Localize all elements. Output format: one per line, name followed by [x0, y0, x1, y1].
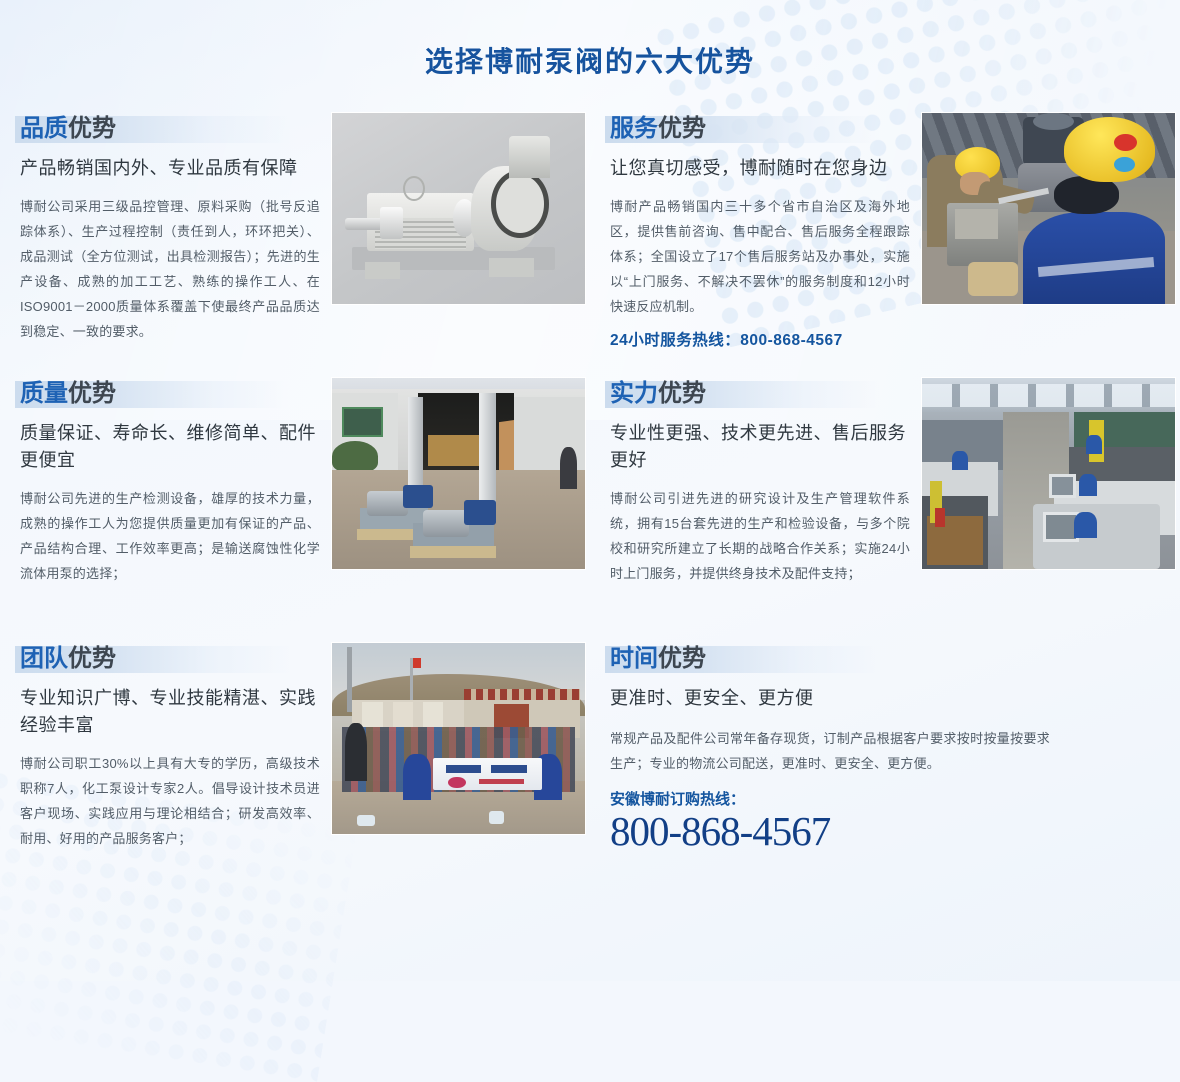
advantage-heading-quality: 品质优势 — [15, 112, 320, 146]
advantage-text-time: 时间优势 更准时、更安全、更方便 常规产品及配件公司常年备存现货，订制产品根据客… — [590, 642, 1060, 907]
advantage-heading-strength: 实力优势 — [605, 377, 910, 411]
heading-suffix: 优势 — [658, 115, 706, 142]
advantages-page: 选择博耐泵阀的六大优势 品质优势 产品畅销国内外、专业品质有保障 博耐公司采用三… — [0, 0, 1180, 981]
advantage-block-time: 时间优势 更准时、更安全、更方便 常规产品及配件公司常年备存现货，订制产品根据客… — [590, 642, 1180, 907]
advantage-block-team: 团队优势 专业知识广博、专业技能精湛、实践经验丰富 博耐公司职工30%以上具有大… — [0, 642, 590, 907]
advantage-block-quality: 品质优势 产品畅销国内外、专业品质有保障 博耐公司采用三级品控管理、原料采购（批… — [0, 112, 590, 377]
advantage-subtitle: 质量保证、寿命长、维修简单、配件更便宜 — [15, 420, 320, 474]
advantage-image-charity-group-photo-tibet — [331, 642, 586, 835]
advantage-body: 博耐公司引进先进的研究设计及生产管理软件系统，拥有15台套先进的生产和检验设备，… — [605, 486, 910, 586]
advantage-heading-reliability: 质量优势 — [15, 377, 320, 411]
advantage-text-strength: 实力优势 专业性更强、技术更先进、售后服务更好 博耐公司引进先进的研究设计及生产… — [590, 377, 920, 642]
heading-suffix: 优势 — [68, 380, 116, 407]
advantage-row-1: 品质优势 产品畅销国内外、专业品质有保障 博耐公司采用三级品控管理、原料采购（批… — [0, 112, 1180, 377]
heading-suffix: 优势 — [68, 115, 116, 142]
heading-accent: 时间 — [610, 645, 658, 672]
advantage-text-quality: 品质优势 产品畅销国内外、专业品质有保障 博耐公司采用三级品控管理、原料采购（批… — [0, 112, 330, 377]
order-hotline-label: 安徽博耐订购热线： — [605, 788, 1050, 809]
advantage-rows: 品质优势 产品畅销国内外、专业品质有保障 博耐公司采用三级品控管理、原料采购（批… — [0, 112, 1180, 907]
advantage-text-service: 服务优势 让您真切感受，博耐随时在您身边 博耐产品畅销国内三十多个省市自治区及海… — [590, 112, 920, 377]
heading-accent: 品质 — [20, 115, 68, 142]
advantage-image-pump-cutaway-render — [331, 112, 586, 305]
advantage-block-reliability: 质量优势 质量保证、寿命长、维修简单、配件更便宜 博耐公司先进的生产检测设备，雄… — [0, 377, 590, 642]
heading-accent: 质量 — [20, 380, 68, 407]
advantage-subtitle: 专业知识广博、专业技能精湛、实践经验丰富 — [15, 685, 320, 739]
advantage-body: 博耐产品畅销国内三十多个省市自治区及海外地区，提供售前咨询、售中配合、售后服务全… — [605, 194, 910, 319]
advantage-body: 博耐公司采用三级品控管理、原料采购（批号反追踪体系）、生产过程控制（责任到人，环… — [15, 194, 320, 344]
heading-suffix: 优势 — [68, 645, 116, 672]
service-hotline[interactable]: 24小时服务热线：800-868-4567 — [605, 328, 910, 350]
advantage-text-reliability: 质量优势 质量保证、寿命长、维修简单、配件更便宜 博耐公司先进的生产检测设备，雄… — [0, 377, 330, 642]
advantage-heading-service: 服务优势 — [605, 112, 910, 146]
advantage-image-machine-shop-workshop — [921, 377, 1176, 570]
heading-accent: 实力 — [610, 380, 658, 407]
advantage-heading-time: 时间优势 — [605, 642, 1050, 676]
advantage-subtitle: 产品畅销国内外、专业品质有保障 — [15, 155, 320, 182]
advantage-body: 常规产品及配件公司常年备存现货，订制产品根据客户要求按时按量按要求生产；专业的物… — [605, 726, 1050, 776]
heading-accent: 团队 — [20, 645, 68, 672]
heading-suffix: 优势 — [658, 380, 706, 407]
advantage-image-pump-skids-outdoor — [331, 377, 586, 570]
order-hotline-number[interactable]: 800-868-4567 — [605, 809, 1050, 853]
advantage-heading-team: 团队优势 — [15, 642, 320, 676]
advantage-block-strength: 实力优势 专业性更强、技术更先进、售后服务更好 博耐公司引进先进的研究设计及生产… — [590, 377, 1180, 642]
advantage-image-workers-servicing-pump — [921, 112, 1176, 305]
advantage-subtitle: 专业性更强、技术更先进、售后服务更好 — [605, 420, 910, 474]
advantage-row-2: 质量优势 质量保证、寿命长、维修简单、配件更便宜 博耐公司先进的生产检测设备，雄… — [0, 377, 1180, 642]
advantage-body: 博耐公司先进的生产检测设备，雄厚的技术力量，成熟的操作工人为您提供质量更加有保证… — [15, 486, 320, 586]
advantage-row-3: 团队优势 专业知识广博、专业技能精湛、实践经验丰富 博耐公司职工30%以上具有大… — [0, 642, 1180, 907]
advantage-subtitle: 让您真切感受，博耐随时在您身边 — [605, 155, 910, 182]
advantage-subtitle: 更准时、更安全、更方便 — [605, 685, 1050, 712]
advantage-text-team: 团队优势 专业知识广博、专业技能精湛、实践经验丰富 博耐公司职工30%以上具有大… — [0, 642, 330, 907]
page-title: 选择博耐泵阀的六大优势 — [0, 0, 1180, 76]
advantage-body: 博耐公司职工30%以上具有大专的学历，高级技术职称7人，化工泵设计专家2人。倡导… — [15, 751, 320, 851]
heading-accent: 服务 — [610, 115, 658, 142]
heading-suffix: 优势 — [658, 645, 706, 672]
advantage-block-service: 服务优势 让您真切感受，博耐随时在您身边 博耐产品畅销国内三十多个省市自治区及海… — [590, 112, 1180, 377]
